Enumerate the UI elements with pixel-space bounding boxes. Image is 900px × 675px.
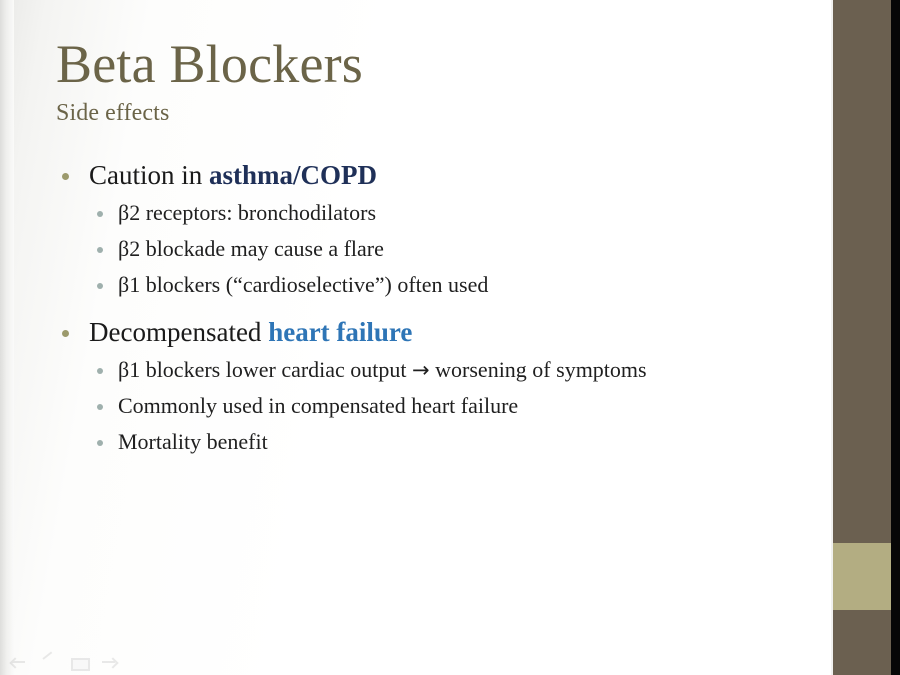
title-block: Beta Blockers Side effects bbox=[56, 36, 776, 127]
page-subtitle: Side effects bbox=[56, 100, 776, 126]
bullet-level2-cardiac-output: β1 blockers lower cardiac output → worse… bbox=[56, 359, 836, 381]
previous-slide-icon[interactable] bbox=[10, 656, 27, 669]
bullet-text-highlight: asthma/COPD bbox=[209, 160, 377, 190]
sub-bullet-dot-icon bbox=[97, 211, 103, 217]
bullet-level2-compensated-hf: Commonly used in compensated heart failu… bbox=[56, 395, 836, 417]
page-title: Beta Blockers bbox=[56, 36, 776, 92]
sub-bullet-text: β2 blockade may cause a flare bbox=[118, 236, 384, 261]
sub-bullet-dot-icon bbox=[97, 404, 103, 410]
pen-annotation-icon[interactable] bbox=[40, 656, 57, 669]
bullet-text-highlight: heart failure bbox=[268, 317, 412, 347]
sub-bullet-text-before: β1 blockers lower cardiac output bbox=[118, 357, 412, 382]
slide-left-edge-shading bbox=[0, 0, 14, 675]
bullet-level2-beta2-receptors: β2 receptors: bronchodilators bbox=[56, 202, 836, 224]
bullet-level1-caution: Caution in asthma/COPD bbox=[56, 162, 836, 189]
bullet-level2-beta1-cardioselective: β1 blockers (“cardioselective”) often us… bbox=[56, 274, 836, 296]
sub-bullet-text: Mortality benefit bbox=[118, 429, 268, 454]
bullet-level2-beta2-blockade: β2 blockade may cause a flare bbox=[56, 238, 836, 260]
sub-bullet-text: Commonly used in compensated heart failu… bbox=[118, 393, 518, 418]
sub-bullet-dot-icon bbox=[97, 283, 103, 289]
bullet-dot-icon bbox=[62, 173, 69, 180]
bullet-dot-icon bbox=[62, 330, 69, 337]
bullet-text-plain: Caution in bbox=[89, 160, 209, 190]
sub-bullet-dot-icon bbox=[97, 368, 103, 374]
sidebar-accent-block bbox=[833, 543, 891, 610]
bullet-level2-mortality-benefit: Mortality benefit bbox=[56, 431, 836, 453]
slide-menu-icon[interactable] bbox=[70, 656, 87, 669]
sub-bullet-dot-icon bbox=[97, 247, 103, 253]
sub-bullet-text: β1 blockers (“cardioselective”) often us… bbox=[118, 272, 488, 297]
presentation-slide: Beta Blockers Side effects Caution in as… bbox=[0, 0, 900, 675]
slide-body: Caution in asthma/COPD β2 receptors: bro… bbox=[56, 162, 836, 467]
sub-bullet-text-after: worsening of symptoms bbox=[430, 357, 647, 382]
bullet-text-plain: Decompensated bbox=[89, 317, 268, 347]
bullet-level1-decompensated: Decompensated heart failure bbox=[56, 319, 836, 346]
sub-bullet-text: β2 receptors: bronchodilators bbox=[118, 200, 376, 225]
right-arrow-icon: → bbox=[412, 358, 430, 382]
sub-bullet-dot-icon bbox=[97, 440, 103, 446]
slideshow-player-toolbar[interactable] bbox=[10, 656, 117, 669]
next-slide-icon[interactable] bbox=[100, 656, 117, 669]
window-right-dark-strip bbox=[891, 0, 900, 675]
